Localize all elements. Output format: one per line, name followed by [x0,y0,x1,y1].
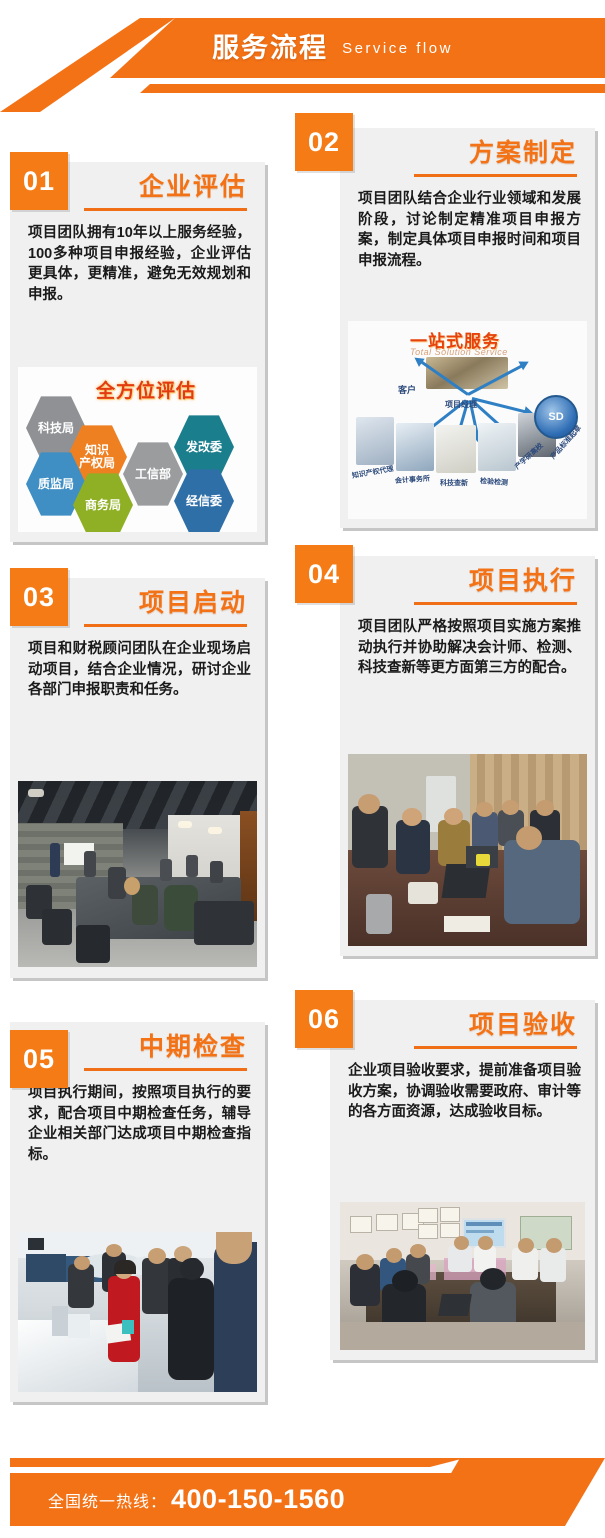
step-card-06: 项目验收 企业项目验收要求，提前准备项目验收方案，协调验收需要政府、审计等的各方… [330,1000,595,1360]
service-node-label-4: 检验检测 [480,476,509,488]
hex-node-gongxin: 工信部 [123,441,183,507]
acceptance-meeting-photo [340,1202,585,1350]
hex-diagram-title: 全方位评估 [96,376,196,403]
step-card-04: 项目执行 项目团队严格按照项目实施方案推动执行并协助解决会计师、检测、科技查新等… [340,556,595,956]
step-badge-02: 02 [295,113,353,171]
header-thin-stripe [0,84,605,93]
conference-room-kickoff-photo [18,781,257,967]
office-working-session-photo [348,754,587,946]
card-01-title: 企业评估 [139,172,247,203]
card-04-body: 项目团队严格按照项目实施方案推动执行并协助解决会计师、检测、科技查新等更方面第三… [340,605,595,689]
footer-diagonal-wedge [420,1458,605,1526]
service-node-label-3: 科技查新 [440,478,468,488]
hexagon-evaluation-diagram: 全方位评估 科技局 知识 产权局 发改委 质监局 工信部 商务局 经信委 [18,367,257,532]
hex-node-jingxin: 经信委 [174,468,234,532]
service-node-photo-1 [356,417,394,465]
card-04-header: 项目执行 [340,556,595,605]
service-node-photo-4 [478,423,516,471]
service-node-photo-2 [396,423,434,471]
page-header: 服务流程 Service flow [0,0,605,112]
step-badge-01: 01 [10,152,68,210]
card-01-body: 项目团队拥有10年以上服务经验，100多种项目申报经验，企业评估更具体，更精准，… [10,211,265,315]
page-title: 服务流程 [212,35,328,62]
service-node-photo-3 [436,425,476,473]
footer-hotline-label: 全国统一热线： [48,1488,167,1512]
card-06-title: 项目验收 [469,1010,577,1041]
card-06-header: 项目验收 [330,1000,595,1049]
step-card-01: 企业评估 项目团队拥有10年以上服务经验，100多种项目申报经验，企业评估更具体… [10,162,265,542]
card-05-title: 中期检查 [139,1032,247,1063]
step-badge-05: 05 [10,1030,68,1088]
header-title-group: 服务流程 Service flow [0,18,605,78]
card-02-header: 方案制定 [340,128,595,177]
service-center-label: 项目经理 [445,399,477,410]
step-badge-06: 06 [295,990,353,1048]
footer-hotline-number[interactable]: 400-150-1560 [171,1484,345,1515]
step-card-03: 项目启动 项目和财税顾问团队在企业现场启动项目，结合企业情况，研讨企业各部门申报… [10,578,265,978]
step-card-02: 方案制定 项目团队结合企业行业领域和发展阶段，讨论制定精准项目申报方案，制定具体… [340,128,595,528]
card-03-title: 项目启动 [139,588,247,619]
service-node-label-1: 知识产权代理 [351,464,394,481]
service-node-label-2: 会计事务所 [395,474,431,486]
showroom-inspection-photo [18,1232,257,1392]
card-03-body: 项目和财税顾问团队在企业现场启动项目，结合企业情况，研讨企业各部门申报职责和任务… [10,627,265,711]
one-stop-service-diagram: 一站式服务 Total Solution Service 客户 项目经理 SD … [348,321,587,519]
step-badge-04: 04 [295,545,353,603]
page-subtitle: Service flow [342,41,453,56]
service-client-label: 客户 [398,383,416,396]
step-badge-03: 03 [10,568,68,626]
service-diagram-subtitle: Total Solution Service [410,347,508,357]
card-02-body: 项目团队结合企业行业领域和发展阶段，讨论制定精准项目申报方案，制定具体项目申报时… [340,177,595,281]
card-04-title: 项目执行 [469,566,577,597]
footer-hotline: 全国统一热线： 400-150-1560 [48,1473,345,1526]
card-06-body: 企业项目验收要求，提前准备项目验收方案，协调验收需要政府、审计等的各方面资源，达… [330,1049,595,1133]
page-footer: 全国统一热线： 400-150-1560 [0,1420,605,1538]
card-02-title: 方案制定 [469,138,577,169]
